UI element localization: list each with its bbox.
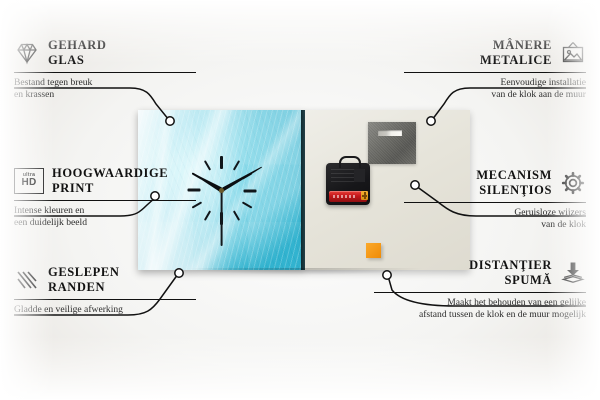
callout-header: ultra HD HOOGWAARDIGE PRINT: [14, 166, 214, 196]
callout-title: GEHARD GLAS: [48, 38, 106, 68]
callout-title: MECANISM SILENŢIOS: [476, 168, 552, 198]
ultra-hd-icon: ultra HD: [14, 168, 44, 194]
beveled-edges-icon: [14, 267, 40, 293]
callout-title: GESLEPEN RANDEN: [48, 265, 120, 295]
callout-rule: [404, 72, 586, 73]
callout-header: GEHARD GLAS: [14, 38, 214, 68]
callout-subtitle: Eenvoudige installatie van de klok aan d…: [386, 77, 586, 102]
callout-header: GESLEPEN RANDEN: [14, 265, 214, 295]
battery-positive-terminal: [361, 191, 368, 200]
callout-subtitle: Bestand tegen breuk en krassen: [14, 77, 214, 102]
callout-header: DISTANŢIER SPUMĂ: [356, 258, 586, 288]
callout-distantier-spuma[interactable]: DISTANŢIER SPUMĂ Maakt het behouden van …: [356, 258, 586, 322]
aa-battery: [329, 191, 367, 202]
picture-hanger-icon: [560, 40, 586, 66]
callout-subtitle: Maakt het behouden van een gelijke afsta…: [356, 297, 586, 322]
callout-subtitle: Intense kleuren en een duidelijk beeld: [14, 205, 214, 230]
callout-header: MÂNERE METALICE: [386, 38, 586, 68]
callout-subtitle: Gladde en veilige afwerking: [14, 304, 214, 316]
callout-title: DISTANŢIER SPUMĂ: [469, 258, 552, 288]
clock-second-hand: [221, 190, 223, 246]
callout-rule: [374, 292, 586, 293]
callout-rule: [14, 200, 196, 201]
callout-subtitle: Geruisloze wijzers van de klok: [386, 207, 586, 232]
callout-title: HOOGWAARDIGE PRINT: [52, 166, 168, 196]
callout-geslepen-randen[interactable]: GESLEPEN RANDEN Gladde en veilige afwerk…: [14, 265, 214, 316]
metal-hanger-plate: [368, 122, 416, 164]
callout-mecanism-silentios[interactable]: MECANISM SILENŢIOS Geruisloze wijzers va…: [386, 168, 586, 232]
hanger-slot: [378, 130, 402, 136]
spacer-arrow-icon: [560, 260, 586, 286]
mechanism-module: [354, 169, 365, 182]
callout-rule: [404, 202, 586, 203]
gear-icon: [560, 170, 586, 196]
clock-center-pin: [219, 188, 224, 193]
callout-header: MECANISM SILENŢIOS: [386, 168, 586, 198]
mechanism-hanging-loop: [339, 156, 361, 168]
foam-spacer: [366, 243, 381, 258]
callout-title: MÂNERE METALICE: [480, 38, 552, 68]
callout-gehard-glas[interactable]: GEHARD GLAS Bestand tegen breuk en krass…: [14, 38, 214, 102]
callout-manere-metalice[interactable]: MÂNERE METALICE Eenvoudige installatie v…: [386, 38, 586, 102]
diamond-icon: [14, 40, 40, 66]
infographic-canvas: GEHARD GLAS Bestand tegen breuk en krass…: [0, 0, 600, 400]
quartz-mechanism: [326, 163, 370, 205]
callout-rule: [14, 299, 196, 300]
callout-rule: [14, 72, 196, 73]
callout-hoogwaardige-print[interactable]: ultra HD HOOGWAARDIGE PRINT Intense kleu…: [14, 166, 214, 230]
